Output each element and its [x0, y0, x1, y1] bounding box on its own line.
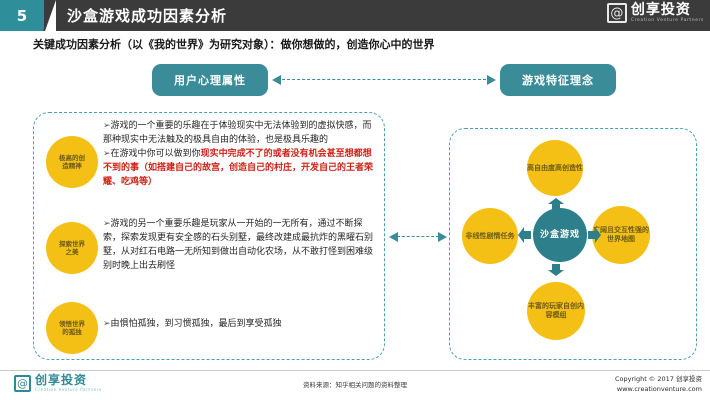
- pill-user-psychology: 用户心理属性: [152, 64, 268, 96]
- page-title: 沙盒游戏成功因素分析: [67, 5, 227, 26]
- top-bidirectional-arrow: [272, 79, 496, 81]
- circle-understand-solitude-line2: 的孤独: [62, 328, 82, 336]
- arrow-right-icon: [588, 227, 601, 243]
- paragraph-explore-beauty: ➢游戏的另一个重要乐趣是玩家从一开始的一无所有，通过不断探索，探索发现更有安全感…: [103, 218, 375, 274]
- circle-explore-beauty: 探索世界 之美: [46, 222, 98, 274]
- arrow-down-icon: [548, 264, 564, 276]
- arrow-head-left-icon: [272, 75, 281, 85]
- paragraph-understand-solitude: ➢由惧怕孤独，到习惯孤独，最后到享受孤独: [103, 318, 375, 332]
- node-nonlinear-quests: 非线性剧情任务: [462, 208, 518, 264]
- arrow-left-icon: [518, 227, 531, 243]
- header-logo-name-cn: 创享投资: [631, 3, 704, 17]
- slide-header: 5 沙盒游戏成功因素分析 @ 创享投资 Creation Venture Par…: [0, 0, 710, 31]
- middle-arrow-line: [397, 236, 439, 237]
- bullet-marker-2: ➢: [103, 149, 111, 159]
- bullet-marker-4: ➢: [103, 319, 111, 329]
- paragraph-creative-spirit-prefix: 在游戏中你可以做到你: [111, 149, 201, 159]
- pill-game-features: 游戏特征理念: [500, 64, 616, 96]
- middle-arrow-head-left-icon: [389, 232, 398, 242]
- node-high-freedom-creativity: 高自由度高创造性: [527, 140, 583, 196]
- header-slash-divider: [43, 0, 56, 31]
- footer-source-note: 资料来源：知乎相关问题的资料整理: [0, 379, 710, 389]
- footer-copyright: Copyright © 2017 创享投资 www.creationventur…: [615, 375, 702, 395]
- middle-bidirectional-arrow: [389, 236, 447, 238]
- slide-subtitle: 关键成功因素分析（以《我的世界》为研究对象）：做你想做的，创造你心中的世界: [33, 36, 435, 52]
- circle-explore-beauty-line1: 探索世界: [59, 240, 85, 248]
- circle-creative-spirit-line2: 造精神: [62, 162, 82, 170]
- paragraph-creative-spirit: ➢游戏的一个重要的乐趣在于体验现实中无法体验到的虚拟快感，而那种现实中无法触及的…: [103, 120, 375, 190]
- middle-arrow-head-right-icon: [438, 232, 447, 242]
- top-arrow-line: [282, 79, 486, 80]
- footer-website: www.creationventure.com: [615, 385, 702, 395]
- slide-root: 5 沙盒游戏成功因素分析 @ 创享投资 Creation Venture Par…: [0, 0, 710, 400]
- node-sandbox-game-center: 沙盒游戏: [533, 208, 587, 262]
- paragraph-understand-solitude-text: 由惧怕孤独，到习惯孤独，最后到享受孤独: [111, 319, 282, 329]
- arrow-head-right-icon: [487, 75, 496, 85]
- bullet-marker-3: ➢: [103, 219, 111, 229]
- circle-explore-beauty-line2: 之美: [66, 248, 79, 256]
- slide-number-badge: 5: [0, 0, 44, 31]
- footer-divider: [0, 370, 710, 371]
- circle-creative-spirit-line1: 极高的创: [59, 154, 85, 162]
- arrow-up-icon: [548, 198, 564, 210]
- paragraph-explore-beauty-text: 游戏的另一个重要乐趣是玩家从一开始的一无所有，通过不断探索，探索发现更有安全感的…: [103, 219, 373, 271]
- header-logo-name-en: Creation Venture Partners: [631, 19, 704, 24]
- footer-copyright-line: Copyright © 2017 创享投资: [615, 375, 702, 385]
- circle-understand-solitude: 领悟世界 的孤独: [46, 302, 98, 354]
- header-logo-text: 创享投资 Creation Venture Partners: [631, 3, 704, 24]
- paragraph-creative-spirit-text1: 游戏的一个重要的乐趣在于体验现实中无法体验到的虚拟快感，而那种现实中无法触及的极…: [103, 121, 372, 145]
- bullet-marker-1: ➢: [103, 121, 111, 131]
- node-user-generated-mods: 丰富的玩家自创内容模组: [527, 282, 585, 340]
- circle-creative-spirit: 极高的创 造精神: [46, 136, 98, 188]
- circle-understand-solitude-line1: 领悟世界: [59, 320, 85, 328]
- header-brand-logo: @ 创享投资 Creation Venture Partners: [607, 3, 704, 24]
- at-sign-logo-icon: @: [607, 3, 627, 23]
